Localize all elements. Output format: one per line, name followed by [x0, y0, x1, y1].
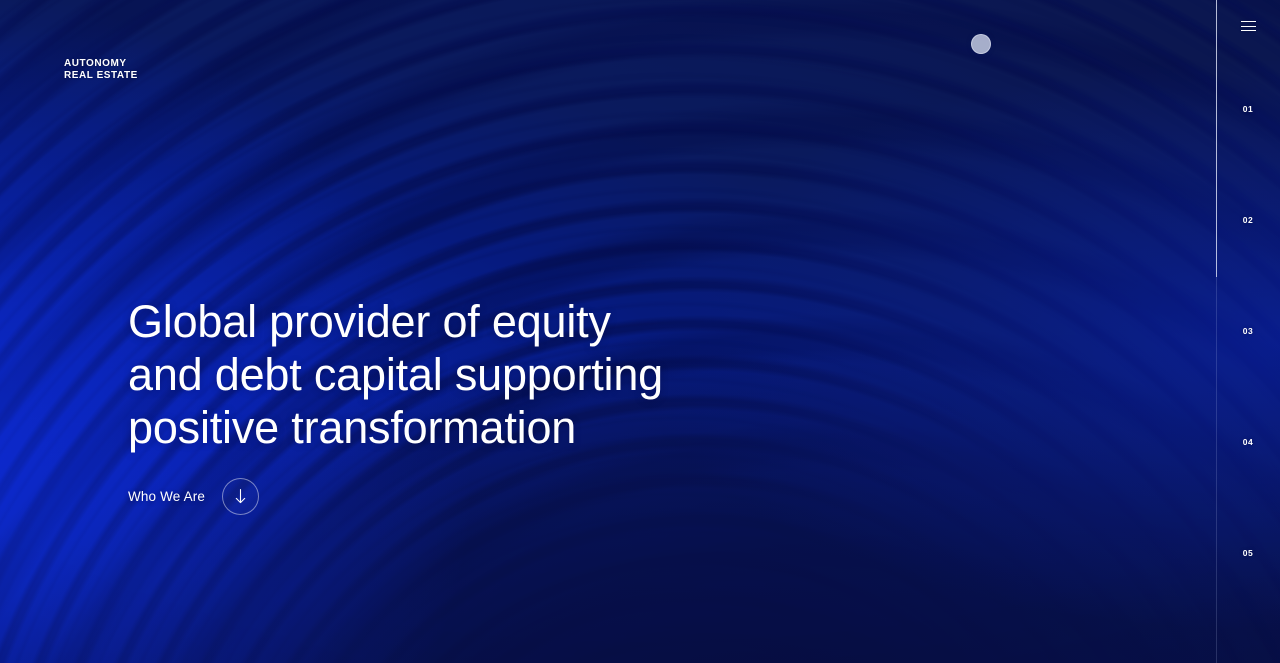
headline-line-3: positive transformation	[128, 401, 663, 454]
who-we-are-cta[interactable]: Who We Are	[128, 478, 259, 515]
hamburger-bar-1	[1241, 21, 1256, 22]
hero-page: AUTONOMY REAL ESTATE Global provider of …	[0, 0, 1280, 663]
section-nav-number: 03	[1243, 326, 1253, 336]
arrow-down-icon	[233, 488, 248, 505]
brand-logo[interactable]: AUTONOMY REAL ESTATE	[64, 58, 138, 81]
section-nav-number: 02	[1243, 215, 1253, 225]
scroll-down-button[interactable]	[222, 478, 259, 515]
section-nav-item-04[interactable]: 04	[1232, 437, 1264, 447]
hamburger-bar-3	[1241, 30, 1256, 31]
section-nav-item-02[interactable]: 02	[1232, 215, 1264, 225]
who-we-are-label: Who We Are	[128, 489, 205, 504]
mouse-cursor	[971, 34, 991, 54]
hamburger-bar-2	[1241, 26, 1256, 27]
section-nav-item-03[interactable]: 03	[1232, 326, 1264, 336]
section-nav-number: 01	[1243, 104, 1253, 114]
section-nav-progress	[1216, 0, 1217, 277]
section-nav-item-01[interactable]: 01	[1232, 104, 1264, 114]
headline-line-1: Global provider of equity	[128, 295, 663, 348]
section-nav-number: 05	[1243, 548, 1253, 558]
brand-logo-line-1: AUTONOMY	[64, 58, 138, 70]
section-nav-number: 04	[1243, 437, 1253, 447]
hamburger-menu-icon[interactable]	[1236, 16, 1261, 36]
brand-logo-line-2: REAL ESTATE	[64, 70, 138, 82]
headline-line-2: and debt capital supporting	[128, 348, 663, 401]
page-title: Global provider of equity and debt capit…	[128, 295, 663, 454]
section-nav-item-05[interactable]: 05	[1232, 548, 1264, 558]
